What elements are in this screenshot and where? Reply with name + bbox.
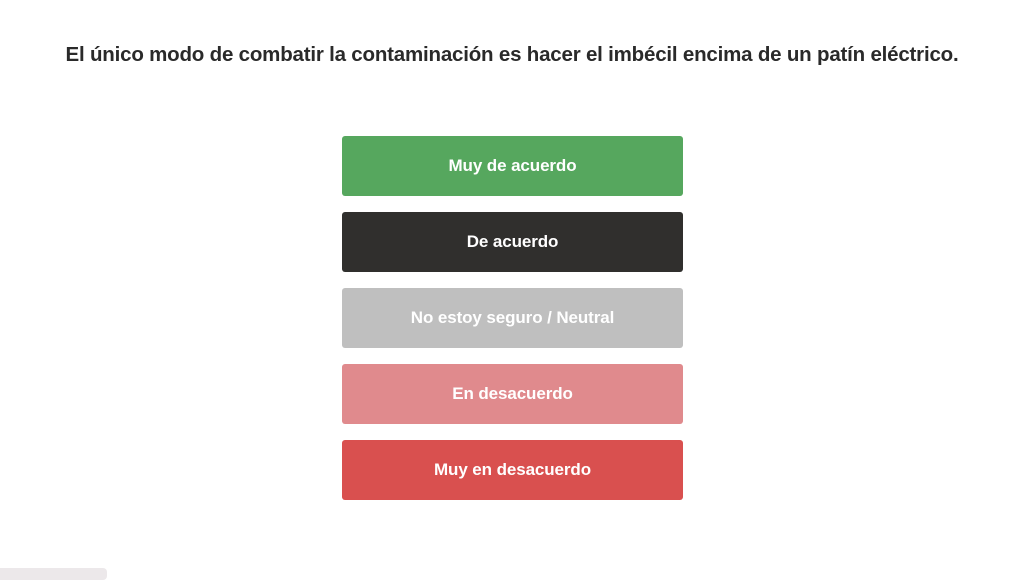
option-disagree[interactable]: En desacuerdo	[342, 364, 683, 424]
question-text: El único modo de combatir la contaminaci…	[16, 41, 1008, 69]
survey-screen: El único modo de combatir la contaminaci…	[0, 0, 1024, 576]
answer-options-list: Muy de acuerdo De acuerdo No estoy segur…	[342, 136, 683, 500]
option-strongly-disagree[interactable]: Muy en desacuerdo	[342, 440, 683, 500]
option-agree[interactable]: De acuerdo	[342, 212, 683, 272]
bottom-progress-bar	[0, 568, 107, 580]
option-strongly-agree[interactable]: Muy de acuerdo	[342, 136, 683, 196]
option-neutral[interactable]: No estoy seguro / Neutral	[342, 288, 683, 348]
